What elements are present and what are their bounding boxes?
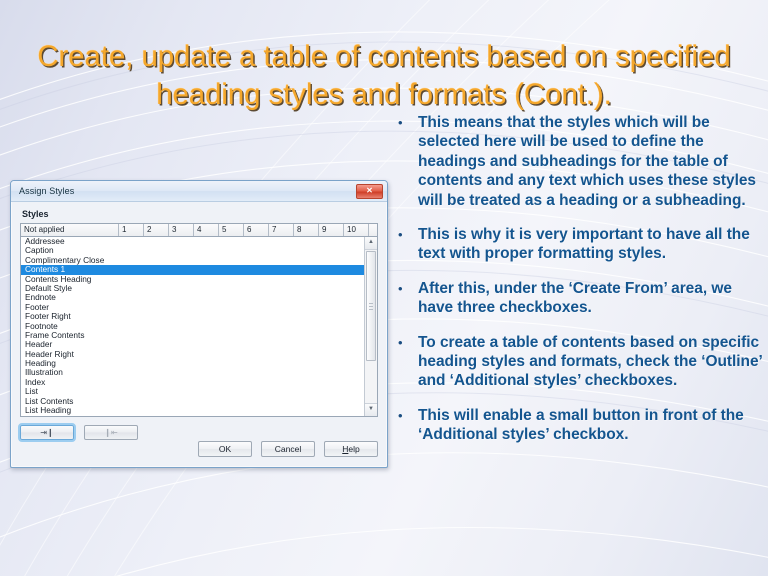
column-header-7[interactable]: 7 — [269, 224, 294, 236]
column-header-5[interactable]: 5 — [219, 224, 244, 236]
table-row[interactable]: Footer Right — [21, 312, 364, 321]
dialog-title: Assign Styles — [11, 186, 74, 196]
list-item: • This is why it is very important to ha… — [392, 225, 766, 264]
bullet-text: This is why it is very important to have… — [418, 225, 766, 264]
column-header-not-applied[interactable]: Not applied — [21, 224, 119, 236]
bullet-marker-icon: • — [392, 225, 418, 245]
table-row[interactable]: Header Right — [21, 350, 364, 359]
list-item: • This means that the styles which will … — [392, 113, 766, 210]
cancel-button[interactable]: Cancel — [261, 441, 315, 457]
table-row[interactable]: Illustration — [21, 368, 364, 377]
table-row[interactable]: Complimentary Close — [21, 256, 364, 265]
bullet-marker-icon: • — [392, 333, 418, 353]
table-row[interactable]: List Contents — [21, 397, 364, 406]
move-up-level-button[interactable]: ⇥❙ — [20, 425, 74, 440]
bullet-text: After this, under the ‘Create From’ area… — [418, 279, 766, 318]
column-header-6[interactable]: 6 — [244, 224, 269, 236]
vertical-scrollbar[interactable]: ▲ ▼ — [364, 237, 377, 416]
page-title: Create, update a table of contents based… — [18, 38, 750, 114]
column-header-8[interactable]: 8 — [294, 224, 319, 236]
level-tool-buttons: ⇥❙ ❙⇤ — [20, 425, 378, 440]
table-row[interactable]: Contents Heading — [21, 275, 364, 284]
column-header-3[interactable]: 3 — [169, 224, 194, 236]
scrollbar-thumb[interactable] — [366, 251, 376, 361]
column-header-10[interactable]: 10 — [344, 224, 369, 236]
dialog-body: Styles Not applied 1 2 3 4 5 6 7 8 9 10 — [11, 202, 387, 440]
table-row[interactable]: Addressee — [21, 237, 364, 246]
table-row[interactable]: Footer — [21, 303, 364, 312]
scrollbar-grip-icon — [369, 303, 373, 310]
dialog-titlebar[interactable]: Assign Styles ✕ — [11, 181, 387, 202]
column-header-row: Not applied 1 2 3 4 5 6 7 8 9 10 — [21, 224, 377, 237]
bullet-list: • This means that the styles which will … — [392, 113, 766, 460]
list-item: • This will enable a small button in fro… — [392, 406, 766, 445]
column-header-9[interactable]: 9 — [319, 224, 344, 236]
list-item: • To create a table of contents based on… — [392, 333, 766, 391]
column-header-1[interactable]: 1 — [119, 224, 144, 236]
table-row[interactable]: Default Style — [21, 284, 364, 293]
move-down-level-button[interactable]: ❙⇤ — [84, 425, 138, 440]
table-row[interactable]: Frame Contents — [21, 331, 364, 340]
bullet-marker-icon: • — [392, 113, 418, 133]
bullet-text: To create a table of contents based on s… — [418, 333, 766, 391]
list-item: • After this, under the ‘Create From’ ar… — [392, 279, 766, 318]
table-row[interactable]: Heading — [21, 359, 364, 368]
scroll-down-icon[interactable]: ▼ — [365, 403, 377, 416]
styles-list-control[interactable]: Not applied 1 2 3 4 5 6 7 8 9 10 Address… — [20, 223, 378, 417]
table-row[interactable]: Index — [21, 378, 364, 387]
styles-group-label: Styles — [22, 209, 378, 219]
column-header-spacer — [369, 224, 377, 236]
help-button[interactable]: Help — [324, 441, 378, 457]
table-row[interactable]: Endnote — [21, 293, 364, 302]
help-button-rest: elp — [348, 444, 359, 454]
close-icon[interactable]: ✕ — [356, 184, 383, 199]
scroll-up-icon[interactable]: ▲ — [365, 237, 377, 250]
bullet-text: This means that the styles which will be… — [418, 113, 766, 210]
styles-row-container[interactable]: Addressee Caption Complimentary Close Co… — [21, 237, 364, 416]
ok-button[interactable]: OK — [198, 441, 252, 457]
column-header-2[interactable]: 2 — [144, 224, 169, 236]
slide-canvas: Create, update a table of contents based… — [0, 0, 768, 576]
dialog-button-row: OK Cancel Help — [198, 441, 378, 457]
bullet-text: This will enable a small button in front… — [418, 406, 766, 445]
bullet-marker-icon: • — [392, 279, 418, 299]
assign-styles-dialog: Assign Styles ✕ Styles Not applied 1 2 3… — [10, 180, 388, 468]
bullet-marker-icon: • — [392, 406, 418, 426]
table-row[interactable]: List Heading — [21, 406, 364, 415]
column-header-4[interactable]: 4 — [194, 224, 219, 236]
